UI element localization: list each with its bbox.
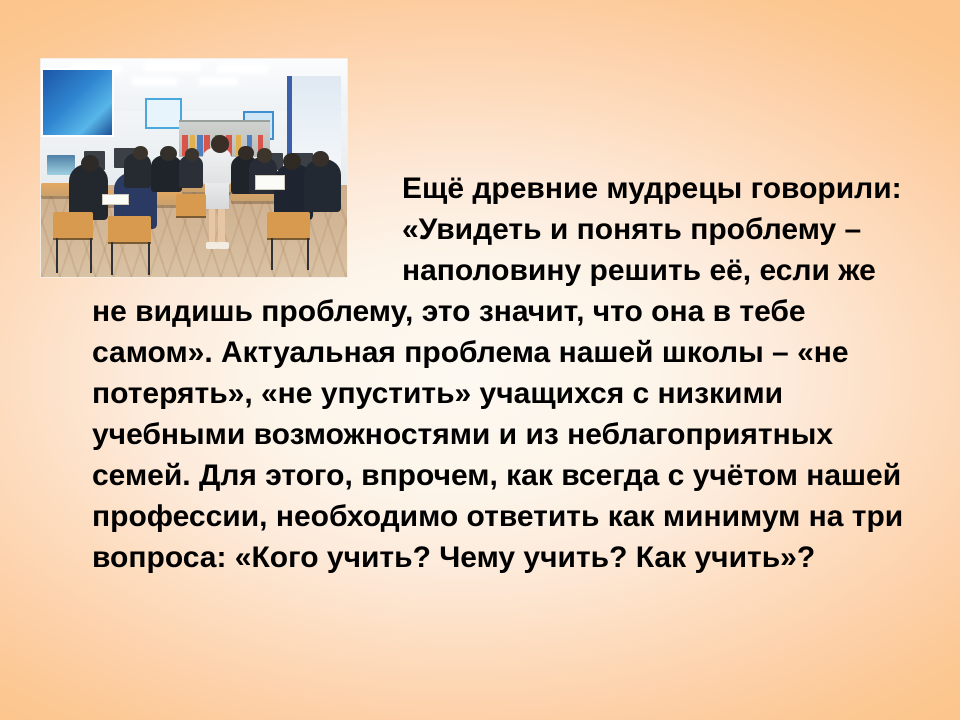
student-head bbox=[312, 151, 329, 167]
student-head bbox=[185, 148, 199, 161]
teacher-head bbox=[211, 135, 229, 152]
ceiling-light bbox=[218, 66, 267, 73]
ceiling-light bbox=[133, 79, 176, 84]
student-head bbox=[238, 146, 253, 160]
slide-body-text: Ещё древние мудрецы говорили: «Увидеть и… bbox=[92, 168, 910, 578]
wall-poster bbox=[41, 68, 114, 138]
chair bbox=[53, 212, 93, 238]
student-head bbox=[257, 148, 272, 162]
ceiling-light bbox=[145, 63, 200, 70]
ceiling-light bbox=[200, 79, 237, 84]
chair-leg bbox=[56, 238, 58, 273]
text-wrap-spacer bbox=[92, 168, 402, 286]
wall-notice-board bbox=[145, 98, 182, 129]
slide-canvas: Ещё древние мудрецы говорили: «Увидеть и… bbox=[0, 0, 960, 720]
